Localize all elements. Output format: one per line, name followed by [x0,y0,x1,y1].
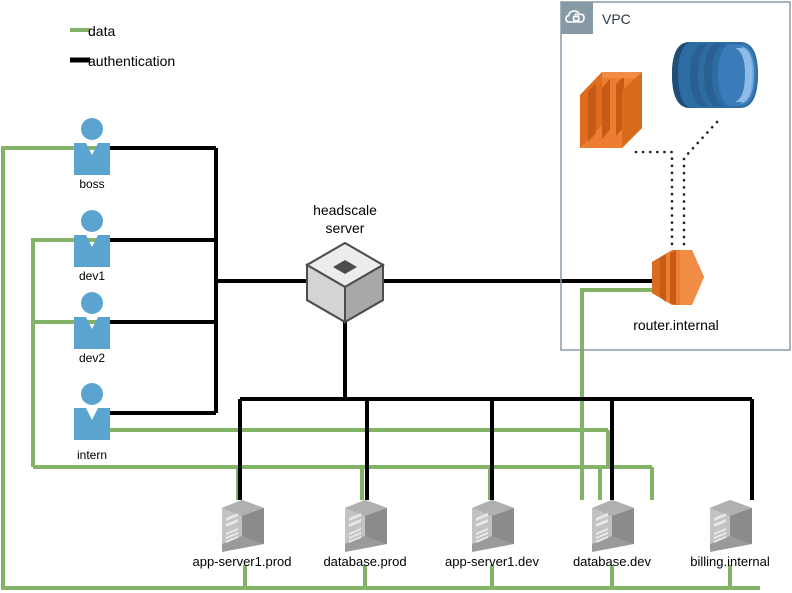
legend-authentication-label: authentication [88,53,175,69]
headscale-label-line2: server [326,220,365,236]
legend: data authentication [70,23,175,69]
user-icon [74,383,110,440]
server-app-server1-dev[interactable]: app-server1.dev [445,500,539,569]
user-intern-label: intern [77,448,107,462]
server-label: app-server1.prod [193,554,292,569]
router-internal-label: router.internal [633,317,719,333]
server-label: billing.internal [690,554,770,569]
legend-item-data: data [70,23,115,39]
vpc-label: VPC [602,11,631,27]
server-billing-internal[interactable]: billing.internal [690,500,770,569]
user-dev2-label: dev2 [79,351,105,365]
legend-data-label: data [88,23,115,39]
network-diagram: data authentication boss dev1 dev2 inter… [0,0,792,593]
cube-3d-icon [307,243,383,322]
legend-item-authentication: authentication [70,53,175,69]
server-tower-icon [222,500,264,552]
headscale-server[interactable]: headscale server [307,202,383,322]
server-tower-icon [710,500,752,552]
aws-compute-stack-icon[interactable] [580,72,642,148]
diagram-canvas: data authentication boss dev1 dev2 inter… [0,0,792,593]
server-database-dev[interactable]: database.dev [573,500,652,569]
server-tower-icon [472,500,514,552]
user-intern[interactable]: intern [74,383,110,462]
server-tower-icon [345,500,387,552]
server-database-prod[interactable]: database.prod [323,500,406,569]
user-dev1-label: dev1 [79,269,105,283]
server-tower-icon [592,500,634,552]
user-dev1[interactable]: dev1 [74,210,110,283]
vpc-container: VPC [561,2,790,350]
user-boss-label: boss [79,177,104,191]
server-label: database.dev [573,554,652,569]
aws-database-stack-icon[interactable] [672,42,758,108]
user-dev2[interactable]: dev2 [74,292,110,365]
server-label: database.prod [323,554,406,569]
vpc-dotted-links [636,122,717,250]
server-label: app-server1.dev [445,554,539,569]
user-boss[interactable]: boss [74,118,110,191]
aws-router-icon[interactable] [652,250,704,305]
server-app-server1-prod[interactable]: app-server1.prod [193,500,292,569]
headscale-label-line1: headscale [313,202,377,218]
